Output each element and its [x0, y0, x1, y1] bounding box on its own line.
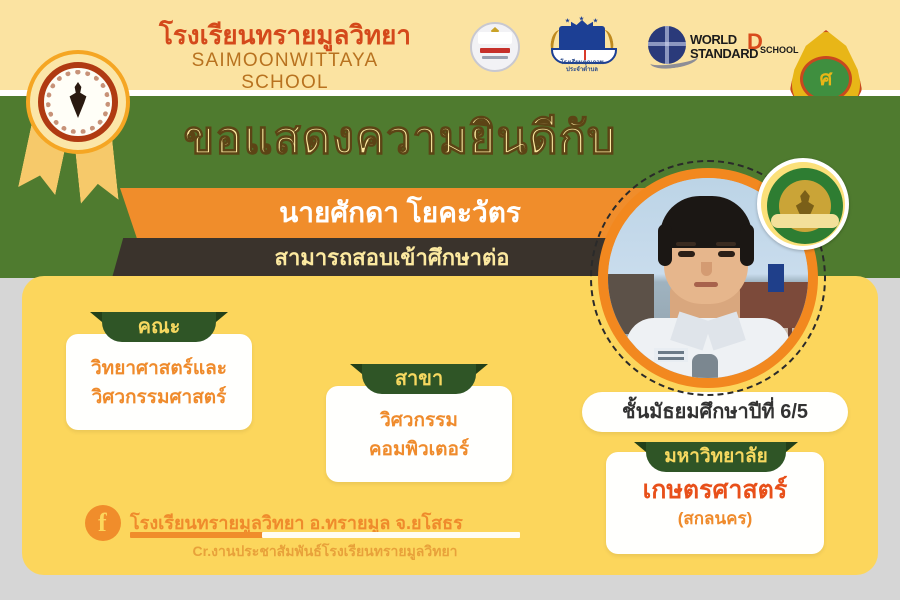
congratulations-poster: โรงเรียนทรายมูลวิทยา SAIMOONWITTAYA SCHO…: [0, 0, 900, 600]
faculty-line-1: วิทยาศาสตร์และ: [66, 354, 252, 383]
seal-inner-plate: [478, 32, 512, 44]
seal-ribbon: [771, 214, 839, 228]
quality-award-seal-icon: [470, 22, 520, 72]
district-quality-school-caption: โรงเรียนคุณภาพประจำตำบล: [545, 60, 619, 74]
university-campus: (สกลนคร): [606, 506, 824, 532]
grade-level-text: ชั้นมัธยมศึกษาปีที่ 6/5: [582, 392, 848, 432]
seal-gray-bar: [482, 56, 508, 59]
major-card: วิศวกรรม คอมพิวเตอร์: [326, 386, 512, 482]
university-tag: มหาวิทยาลัย: [646, 442, 786, 472]
star-icon: [565, 18, 570, 23]
school-name-thai: โรงเรียนทรายมูลวิทยา: [150, 20, 420, 50]
world-class-standard-school-logo-icon: WORLD STANDARD D SCHOOL: [648, 26, 778, 68]
emblem-monogram: ศ: [808, 64, 844, 94]
seal-red-bar: [480, 48, 510, 53]
footer-rule-white: [262, 532, 520, 538]
faculty-line-2: วิศวกรรมศาสตร์: [66, 383, 252, 412]
university-card-body: เกษตรศาสตร์ (สกลนคร): [606, 474, 824, 532]
faculty-card-body: วิทยาศาสตร์และ วิศวกรรมศาสตร์: [66, 354, 252, 412]
faculty-card: วิทยาศาสตร์และ วิศวกรรมศาสตร์: [66, 334, 252, 430]
major-line-1: วิศวกรรม: [326, 406, 512, 435]
school-name-english: SAIMOONWITTAYA SCHOOL: [150, 50, 420, 94]
congratulations-headline: ขอแสดงความยินดีกับ: [120, 112, 680, 164]
subtitle-bar: สามารถสอบเข้าศึกษาต่อ: [112, 238, 672, 278]
star-icon: [593, 18, 598, 23]
major-card-body: วิศวกรรม คอมพิวเตอร์: [326, 406, 512, 464]
wcss-word-world: WORLD: [690, 32, 737, 47]
footer-credit: Cr.งานประชาสัมพันธ์โรงเรียนทรายมูลวิทยา: [130, 541, 520, 563]
faculty-tag: คณะ: [102, 312, 216, 342]
grade-level-pill: ชั้นมัธยมศึกษาปีที่ 6/5: [582, 392, 848, 432]
kasetsart-university-seal-icon: [757, 158, 849, 250]
subtitle-text: สามารถสอบเข้าศึกษาต่อ: [112, 238, 672, 278]
major-tag: สาขา: [362, 364, 476, 394]
university-name: เกษตรศาสตร์: [606, 474, 824, 506]
district-quality-school-logo-icon: โรงเรียนคุณภาพประจำตำบล: [545, 18, 619, 74]
major-line-2: คอมพิวเตอร์: [326, 435, 512, 464]
facebook-icon[interactable]: f: [85, 505, 121, 541]
